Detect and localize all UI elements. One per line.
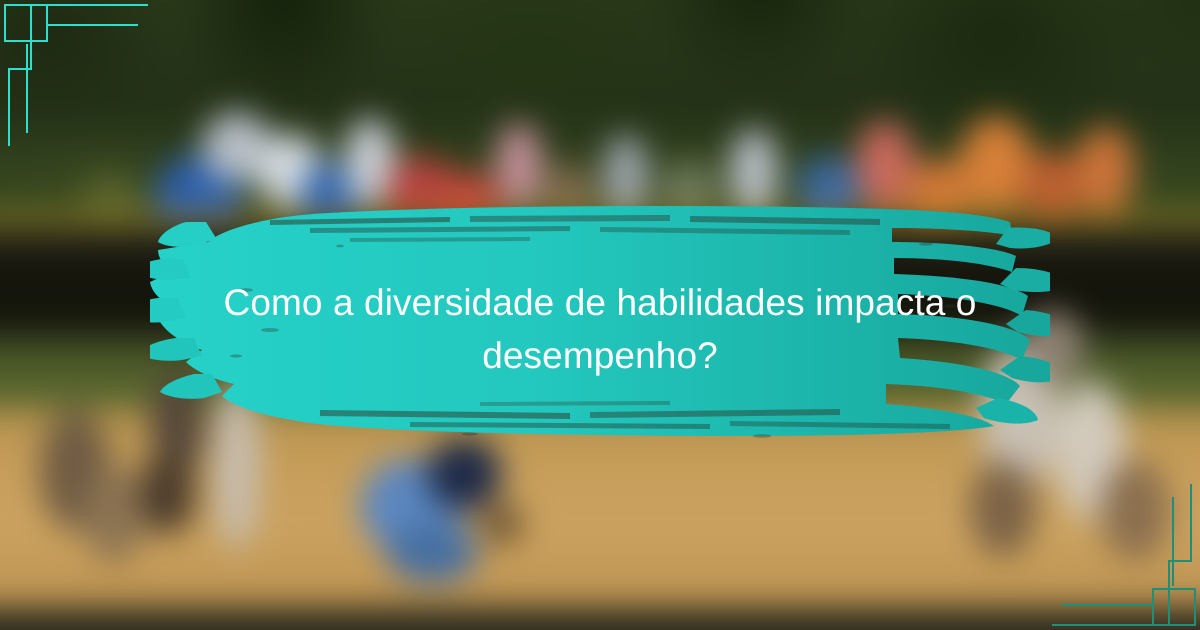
- corner-frame-line-vertical-inner: [1172, 497, 1174, 586]
- headline-line-1: Como a diversidade de habilidades impact…: [208, 276, 992, 329]
- corner-frame-square-outline: [4, 4, 6, 42]
- background-player-sliding: [330, 438, 490, 578]
- corner-frame-line-horizontal-outer: [8, 68, 32, 70]
- corner-frame-line-vertical-outer: [1190, 484, 1192, 562]
- social-card: Como a diversidade de habilidades impact…: [0, 0, 1200, 630]
- headline-line-2: desempenho?: [208, 329, 992, 382]
- background-player-far-left: [40, 410, 150, 570]
- corner-frame-square-outline: [4, 40, 48, 42]
- corner-frame-line-vertical-outer: [30, 4, 32, 70]
- corner-frame-top-left: [0, 0, 200, 180]
- corner-frame-square-outline: [1152, 588, 1154, 626]
- corner-frame-square-outline: [46, 4, 48, 42]
- corner-frame-bottom-right: [1000, 450, 1200, 630]
- headline-text: Como a diversidade de habilidades impact…: [150, 276, 1050, 382]
- corner-frame-square-outline: [1152, 588, 1196, 590]
- corner-frame-line-horizontal-inner: [1062, 604, 1154, 606]
- corner-frame-line-vertical-outer: [8, 68, 10, 146]
- headline-banner: Como a diversidade de habilidades impact…: [150, 198, 1050, 438]
- corner-frame-square-outline: [1194, 588, 1196, 626]
- corner-frame-line-horizontal-inner: [46, 24, 138, 26]
- corner-frame-line-vertical-inner: [26, 44, 28, 133]
- corner-frame-line-horizontal-outer: [30, 4, 148, 6]
- corner-frame-line-horizontal-outer: [1052, 624, 1170, 626]
- corner-frame-line-vertical-outer: [1168, 560, 1170, 626]
